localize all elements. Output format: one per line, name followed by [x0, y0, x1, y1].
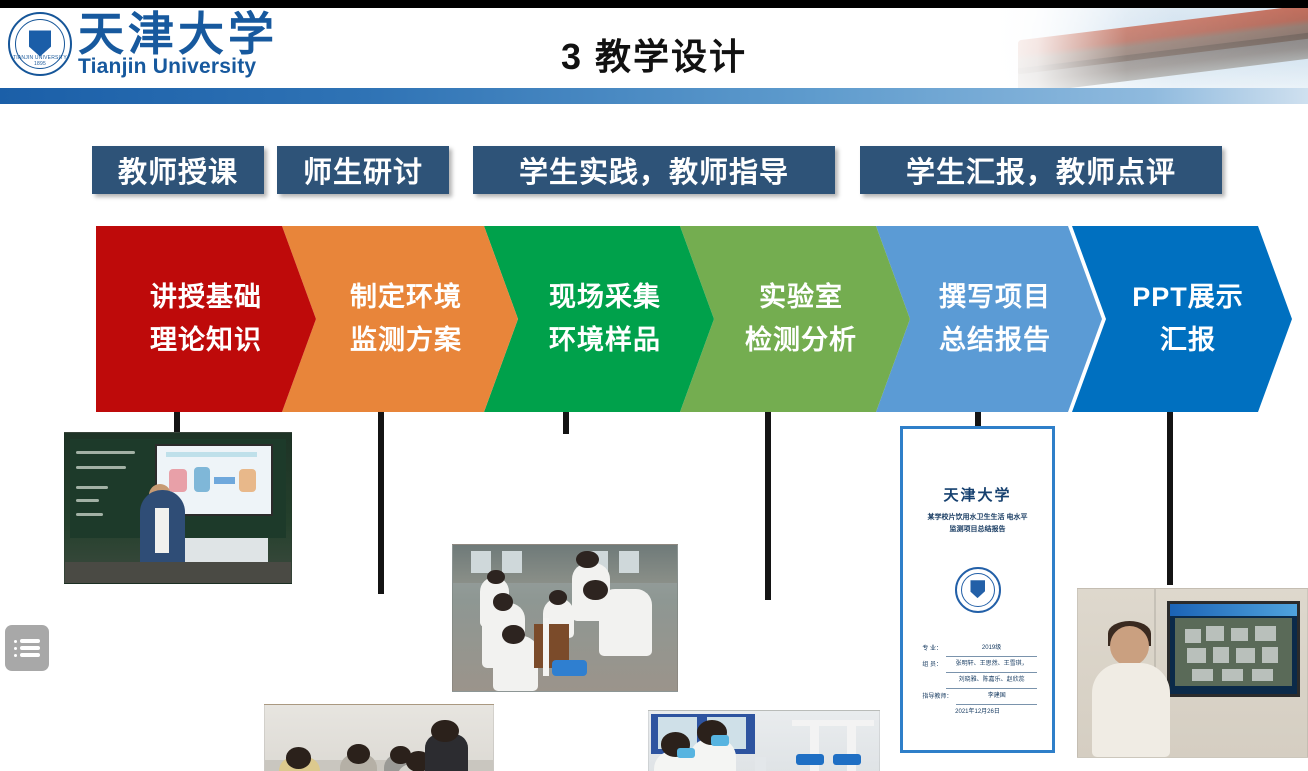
report-field-value-extra: 刘晓雅、陈嘉乐、赵欣蕊 — [946, 673, 1037, 689]
report-field-value-0: 2019级 — [946, 641, 1037, 657]
step-3-line-2: 环境样品 — [549, 321, 661, 360]
report-doc: 天津大学 某学校片饮用水卫生生活 电水平 监测项目总结报告 专 业： 2019级… — [900, 426, 1055, 753]
step-1-line-1: 讲授基础 — [150, 278, 262, 317]
field-photo — [452, 544, 678, 692]
phase-label-practice: 学生实践，教师指导 — [473, 146, 835, 194]
present-photo — [1077, 588, 1308, 758]
step-5-line-2: 总结报告 — [939, 321, 1051, 360]
process-step-2: 制定环境 监测方案 — [282, 226, 518, 412]
step-6-line-1: PPT展示 — [1132, 278, 1244, 317]
report-subtitle: 某学校片饮用水卫生生活 电水平 监测项目总结报告 — [912, 512, 1043, 536]
process-step-6: PPT展示 汇报 — [1072, 226, 1292, 412]
phase-label-teacher-lecture: 教师授课 — [92, 146, 264, 194]
lab-photo — [648, 710, 880, 771]
process-chevron-row: 讲授基础 理论知识 制定环境 监测方案 现场采集 环境样品 实验室 检测分析 撰… — [96, 226, 1292, 412]
presentation-screen — [1167, 601, 1300, 697]
slide-header: TIANJIN UNIVERSITY 1895 天津大学 Tianjin Uni… — [0, 8, 1308, 88]
phase-label-seminar: 师生研讨 — [277, 146, 449, 194]
report-field-value-2: 李建国 — [956, 689, 1037, 705]
seminar-photo — [264, 704, 494, 771]
connector-line-2 — [378, 412, 384, 594]
step-2-line-1: 制定环境 — [350, 278, 462, 317]
slide-list-button[interactable] — [5, 625, 49, 671]
report-field-label-2: 指导教师： — [922, 690, 952, 705]
report-field-label-0: 专 业： — [922, 642, 942, 657]
step-3-line-1: 现场采集 — [549, 278, 661, 317]
step-4-line-2: 检测分析 — [745, 321, 857, 360]
process-step-4: 实验室 检测分析 — [680, 226, 910, 412]
step-4-line-1: 实验室 — [759, 278, 843, 317]
report-field-label-1: 组 员： — [922, 658, 942, 673]
report-subtitle-line-2: 监测项目总结报告 — [912, 524, 1043, 536]
phase-label-row: 教师授课 师生研讨 学生实践，教师指导 学生汇报，教师点评 — [0, 146, 1308, 200]
connector-line-4 — [765, 412, 771, 600]
report-title: 天津大学 — [903, 484, 1052, 505]
process-step-1: 讲授基础 理论知识 — [96, 226, 316, 412]
connector-line-6 — [1167, 412, 1173, 585]
step-5-line-1: 撰写项目 — [939, 278, 1051, 317]
top-black-bar — [0, 0, 1308, 8]
phase-label-report: 学生汇报，教师点评 — [860, 146, 1222, 194]
report-date: 2021年12月26日 — [903, 706, 1052, 715]
process-step-3: 现场采集 环境样品 — [484, 226, 714, 412]
report-subtitle-line-1: 某学校片饮用水卫生生活 电水平 — [912, 512, 1043, 524]
report-seal-icon — [955, 567, 1001, 613]
page-title: 3 教学设计 — [0, 28, 1308, 80]
lecture-photo — [64, 432, 292, 584]
connector-line-5 — [975, 412, 981, 426]
report-fields: 专 业： 2019级 组 员： 张明轩、王思然、王雪琪， 组 员： 刘晓雅、陈嘉… — [922, 641, 1037, 705]
step-2-line-2: 监测方案 — [350, 321, 462, 360]
list-icon — [14, 636, 40, 660]
report-field-value-1: 张明轩、王思然、王雪琪， — [946, 657, 1037, 673]
connector-line-3 — [563, 412, 569, 434]
header-divider — [0, 88, 1308, 104]
step-1-line-2: 理论知识 — [150, 321, 262, 360]
step-6-line-2: 汇报 — [1160, 321, 1216, 360]
slide-body: 教师授课 师生研讨 学生实践，教师指导 学生汇报，教师点评 讲授基础 理论知识 … — [0, 104, 1308, 771]
